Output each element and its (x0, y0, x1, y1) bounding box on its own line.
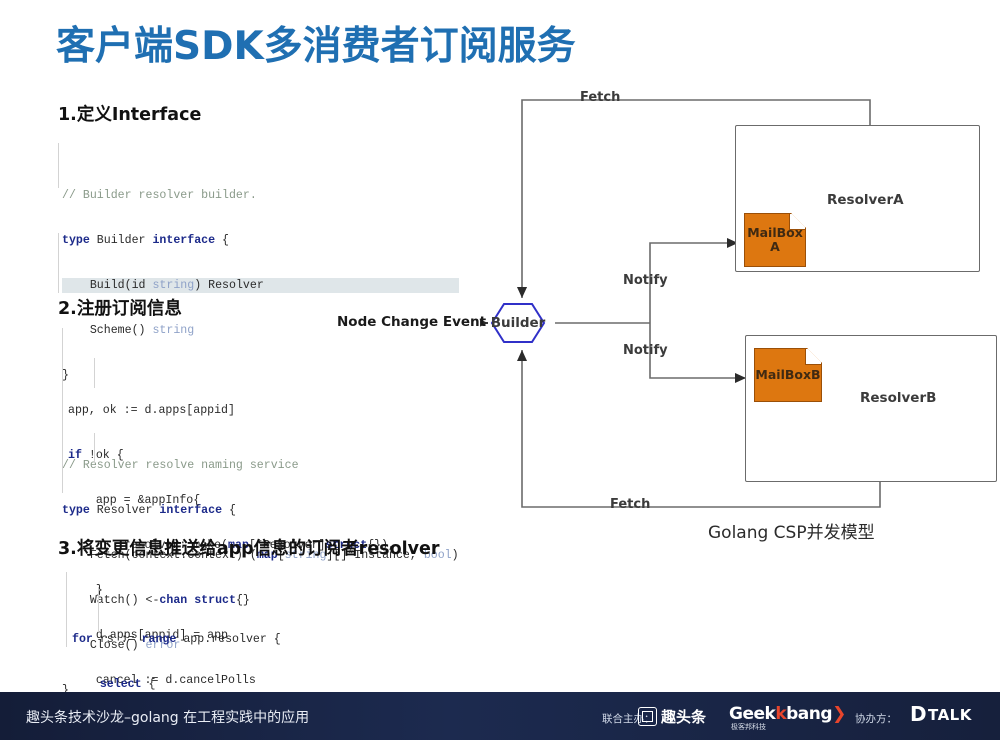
section-heading-1: 1.定义Interface (58, 101, 201, 126)
section-heading-2: 2.注册订阅信息 (58, 295, 182, 320)
edge-label-fetch-bottom: Fetch (610, 497, 650, 512)
edge-label-fetch-top: Fetch (580, 90, 620, 105)
resolver-a-label: ResolverA (827, 192, 904, 208)
diagram-caption: Golang CSP并发模型 (708, 518, 875, 543)
node-change-event-label: Node Change Event (337, 314, 486, 330)
resolver-b-label: ResolverB (860, 390, 936, 406)
geekbang-subtitle: 极客邦科技 (731, 722, 766, 732)
section-heading-3: 3.将变更信息推送给app信息的订阅者resolver (58, 535, 440, 560)
page-title: 客户端SDK多消费者订阅服务 (56, 15, 576, 71)
geekbang-geek: Geek (729, 704, 775, 724)
footer-partner-label: 协办方： (855, 711, 897, 726)
dtalk-logo-d: D (910, 702, 927, 726)
edge-label-notify-a: Notify (623, 273, 668, 288)
dtalk-logo-talk: TALK (928, 706, 972, 724)
footer-talk-title: 趣头条技术沙龙–golang 在工程实践中的应用 (26, 707, 309, 727)
mailbox-b: MailBoxB (754, 348, 822, 402)
edge-label-notify-b: Notify (623, 343, 668, 358)
builder-node-label: Builder (492, 304, 544, 342)
geekbang-bang: bang (786, 704, 832, 724)
slide-canvas: 客户端SDK多消费者订阅服务 1.定义Interface // Builder … (0, 0, 1000, 740)
qutoutiao-brand-name: 趣头条 (661, 706, 706, 727)
builder-node: Builder (492, 304, 544, 342)
footer-bar: 趣头条技术沙龙–golang 在工程实践中的应用 联合主办： 趣头条 Geekk… (0, 692, 1000, 740)
geekbang-k: k (775, 704, 786, 724)
geekbang-logo: Geekkbang❯ (729, 704, 846, 724)
qutoutiao-logo-icon (638, 707, 657, 726)
mailbox-a: MailBoxA (744, 213, 806, 267)
geekbang-arrow-icon: ❯ (832, 704, 846, 724)
mailbox-b-label: MailBoxB (755, 368, 820, 382)
csp-diagram: Builder Node Change Event Fetch Notify N… (480, 85, 1000, 545)
